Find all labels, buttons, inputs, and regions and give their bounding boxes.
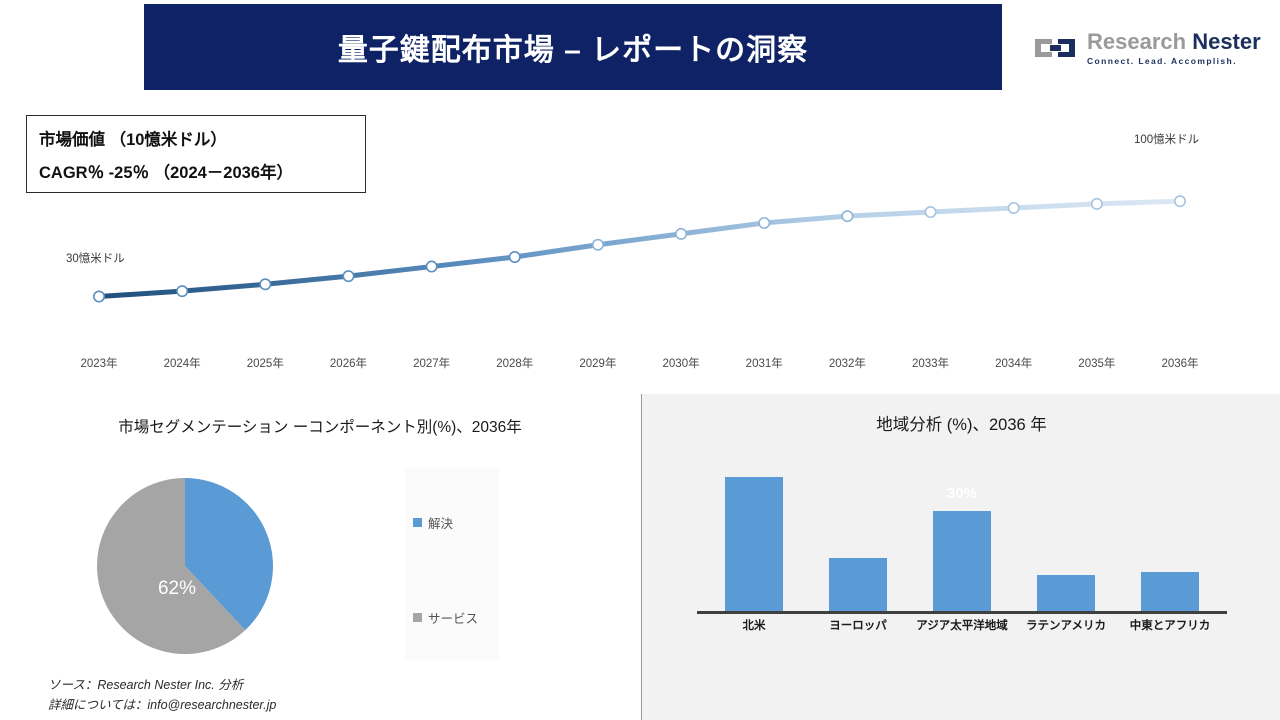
region-bar-label: 北米 [743, 617, 766, 633]
legend-label-service: サービス [428, 608, 478, 627]
year-tick-label: 2030年 [663, 355, 700, 371]
year-tick-label: 2034年 [995, 355, 1032, 371]
pie-slices-group [97, 478, 273, 654]
region-bar-label: アジア太平洋地域 [916, 617, 1008, 633]
regional-bar-labels: 北米ヨーロッパアジア太平洋地域ラテンアメリカ中東とアフリカ [702, 617, 1222, 641]
line-data-point [1008, 203, 1018, 213]
line-data-point [759, 218, 769, 228]
source-line-1: ソース：Research Nester Inc. 分析 [48, 675, 276, 695]
legend-label-solution: 解決 [428, 513, 453, 532]
logo-wordmark: Research Nester [1087, 31, 1261, 53]
legend-item-service[interactable]: サービス [413, 608, 478, 627]
logo-text-block: Research Nester Connect. Lead. Accomplis… [1087, 31, 1261, 66]
region-bar-column[interactable] [1141, 464, 1199, 612]
line-data-point [260, 279, 270, 289]
regional-bars-area: 30% [702, 464, 1222, 612]
year-tick-label: 2032年 [829, 355, 866, 371]
year-tick-label: 2023年 [80, 355, 117, 371]
header-banner: 量子鍵配布市場 – レポートの洞察 [144, 4, 1002, 90]
line-chart-svg [0, 100, 1280, 390]
pie-slice-label: 62% [142, 578, 212, 600]
segmentation-pie: 62% [95, 476, 275, 656]
year-tick-label: 2031年 [746, 355, 783, 371]
line-data-point [842, 211, 852, 221]
region-bar-column[interactable] [829, 464, 887, 612]
year-tick-label: 2028年 [496, 355, 533, 371]
link-chain-icon [1032, 33, 1078, 63]
line-data-point [593, 240, 603, 250]
source-note: ソース：Research Nester Inc. 分析 詳細については：info… [48, 675, 276, 715]
regional-bars-baseline [697, 611, 1227, 614]
year-tick-label: 2026年 [330, 355, 367, 371]
logo-word-research: Research [1087, 29, 1186, 54]
page-title: 量子鍵配布市場 – レポートの洞察 [338, 25, 808, 69]
region-bar[interactable] [725, 477, 783, 612]
year-tick-label: 2027年 [413, 355, 450, 371]
pie-chart-svg [95, 476, 275, 656]
line-data-point [343, 271, 353, 281]
legend-swatch-solution [413, 518, 422, 527]
line-data-point [510, 252, 520, 262]
legend-item-solution[interactable]: 解決 [413, 513, 453, 532]
brand-logo: Research Nester Connect. Lead. Accomplis… [1032, 22, 1260, 74]
market-value-line-chart: 30憶米ドル 100憶米ドル [0, 100, 1280, 390]
segmentation-panel: 市場セグメンテーション ーコンポーネント別(%)、2036年 62% [0, 392, 640, 720]
logo-word-nester: Nester [1192, 29, 1260, 54]
year-tick-label: 2035年 [1078, 355, 1115, 371]
region-bar[interactable] [933, 511, 991, 612]
regional-analysis-panel: 地域分析 (%)、2036 年 30% 北米ヨーロッパアジア太平洋地域ラテンアメ… [641, 394, 1280, 720]
segmentation-title: 市場セグメンテーション ーコンポーネント別(%)、2036年 [60, 416, 580, 439]
region-bar[interactable] [1141, 572, 1199, 612]
region-bar[interactable] [829, 558, 887, 612]
line-data-point [1092, 199, 1102, 209]
line-start-value-label: 30憶米ドル [66, 250, 125, 266]
legend-swatch-service [413, 613, 422, 622]
region-bar[interactable] [1037, 575, 1095, 612]
region-bar-column[interactable] [725, 464, 783, 612]
line-data-point [1175, 196, 1185, 206]
year-tick-label: 2036年 [1161, 355, 1198, 371]
region-bar-label: 中東とアフリカ [1130, 617, 1211, 633]
line-data-point [676, 229, 686, 239]
year-tick-label: 2025年 [247, 355, 284, 371]
region-bar-label: ラテンアメリカ [1026, 617, 1106, 633]
line-data-point [94, 291, 104, 301]
line-end-value-label: 100憶米ドル [1134, 131, 1199, 147]
year-tick-label: 2033年 [912, 355, 949, 371]
year-tick-label: 2024年 [164, 355, 201, 371]
pie-legend: 解決 サービス [405, 468, 499, 660]
region-bar-column[interactable] [1037, 464, 1095, 612]
region-bar-label: ヨーロッパ [829, 617, 887, 633]
region-bar-value-label: 30% [927, 485, 997, 502]
line-data-point [177, 286, 187, 296]
line-chart-year-axis: 2023年2024年2025年2026年2027年2028年2029年2030年… [0, 355, 1280, 381]
logo-tagline: Connect. Lead. Accomplish. [1087, 57, 1261, 66]
line-data-point [925, 207, 935, 217]
source-line-2: 詳細については：info@researchnester.jp [48, 695, 276, 715]
line-data-point [426, 261, 436, 271]
regional-analysis-title: 地域分析 (%)、2036 年 [642, 411, 1280, 435]
year-tick-label: 2029年 [579, 355, 616, 371]
